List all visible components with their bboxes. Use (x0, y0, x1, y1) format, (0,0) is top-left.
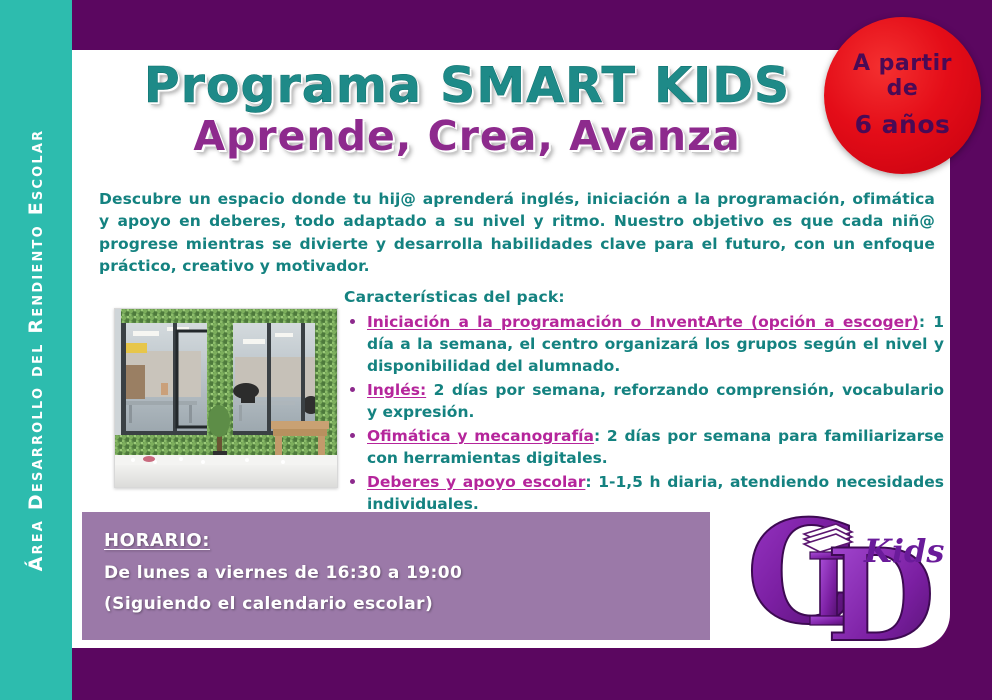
features-block: Características del pack: Iniciación a l… (344, 288, 944, 517)
feature-desc: 2 días por semana, reforzando comprensió… (367, 381, 944, 421)
age-badge-line-2: 6 años (855, 110, 951, 139)
list-item: Ofimática y mecanografía: 2 días por sem… (344, 425, 944, 469)
feature-term: Iniciación a la programación o InventArt… (367, 313, 919, 331)
sidebar-band: Área Desarrollo del Rendiento Escolar (0, 0, 72, 700)
list-item: Iniciación a la programación o InventArt… (344, 311, 944, 377)
age-badge: A partir de 6 años (824, 17, 981, 174)
sidebar-label: Área Desarrollo del Rendiento Escolar (25, 129, 47, 572)
schedule-line-2: (Siguiendo el calendario escolar) (104, 594, 710, 614)
title-block: Programa SMART KIDS Aprende, Crea, Avanz… (72, 60, 862, 158)
poster-root: Área Desarrollo del Rendiento Escolar Pr… (0, 0, 992, 700)
feature-term: Deberes y apoyo escolar (367, 473, 585, 491)
features-list: Iniciación a la programación o InventArt… (344, 311, 944, 515)
age-badge-line-1: A partir de (838, 52, 968, 101)
cid-kids-logo-icon: C D Kids (744, 490, 944, 650)
schedule-title: HORARIO: (104, 530, 710, 551)
content-card: Programa SMART KIDS Aprende, Crea, Avanz… (72, 50, 950, 648)
page-subtitle: Aprende, Crea, Avanza (72, 115, 862, 158)
schedule-line-1: De lunes a viernes de 16:30 a 19:00 (104, 563, 710, 583)
logo-kids-text: Kids (863, 532, 944, 570)
intro-paragraph: Descubre un espacio donde tu hij@ aprend… (99, 188, 935, 278)
list-item: Inglés: 2 días por semana, reforzando co… (344, 379, 944, 423)
brand-logo: C D Kids (744, 490, 944, 650)
feature-term: Inglés: (367, 381, 426, 399)
center-photo (114, 308, 338, 488)
feature-term: Ofimática y mecanografía (367, 427, 594, 445)
features-heading: Características del pack: (344, 288, 944, 306)
schedule-box: HORARIO: De lunes a viernes de 16:30 a 1… (82, 512, 710, 640)
photo-illustration (115, 309, 337, 487)
page-title: Programa SMART KIDS (72, 60, 862, 111)
